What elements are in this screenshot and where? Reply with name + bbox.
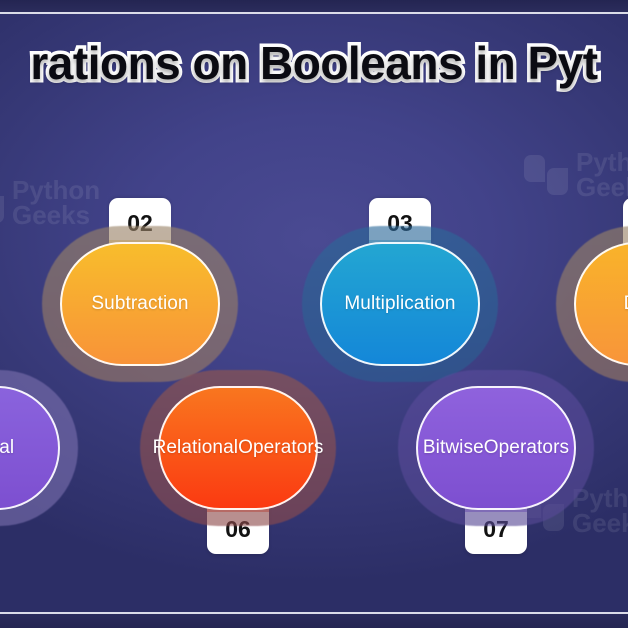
card-bitwise-operators[interactable]: 07 BitwiseOperators: [398, 370, 594, 526]
watermark-top-right: Python Geeks: [524, 150, 628, 200]
card-multiplication[interactable]: 03 Multiplication: [302, 226, 498, 382]
card-division-floor-division[interactable]: Diandd: [556, 226, 628, 382]
python-logo-icon: [0, 181, 4, 225]
watermark-text: Python Geeks: [12, 178, 100, 228]
watermark-line1: Python: [12, 178, 100, 203]
watermark-text: Python Geeks: [576, 150, 628, 200]
top-rule: [0, 12, 628, 14]
card-label: Multiplication: [320, 242, 480, 366]
watermark-line2: Geeks: [12, 203, 100, 228]
card-label: BitwiseOperators: [416, 386, 576, 510]
card-subtraction[interactable]: 02 Subtraction: [42, 226, 238, 382]
card-modulus-exponential[interactable]: s, &ntial: [0, 370, 78, 526]
python-logo-icon: [524, 153, 568, 197]
watermark-top-left: Python Geeks: [0, 178, 100, 228]
card-label: Subtraction: [60, 242, 220, 366]
card-relational-operators[interactable]: 06 RelationalOperators: [140, 370, 336, 526]
top-band: [0, 0, 628, 12]
card-label: RelationalOperators: [158, 386, 318, 510]
slide-canvas: Python Geeks Python Geeks Python Geeks r…: [0, 0, 628, 628]
watermark-line1: Python: [576, 150, 628, 175]
watermark-line2: Geeks: [576, 175, 628, 200]
bottom-band: [0, 614, 628, 628]
slide-title: rations on Booleans in Pyt: [30, 36, 597, 90]
